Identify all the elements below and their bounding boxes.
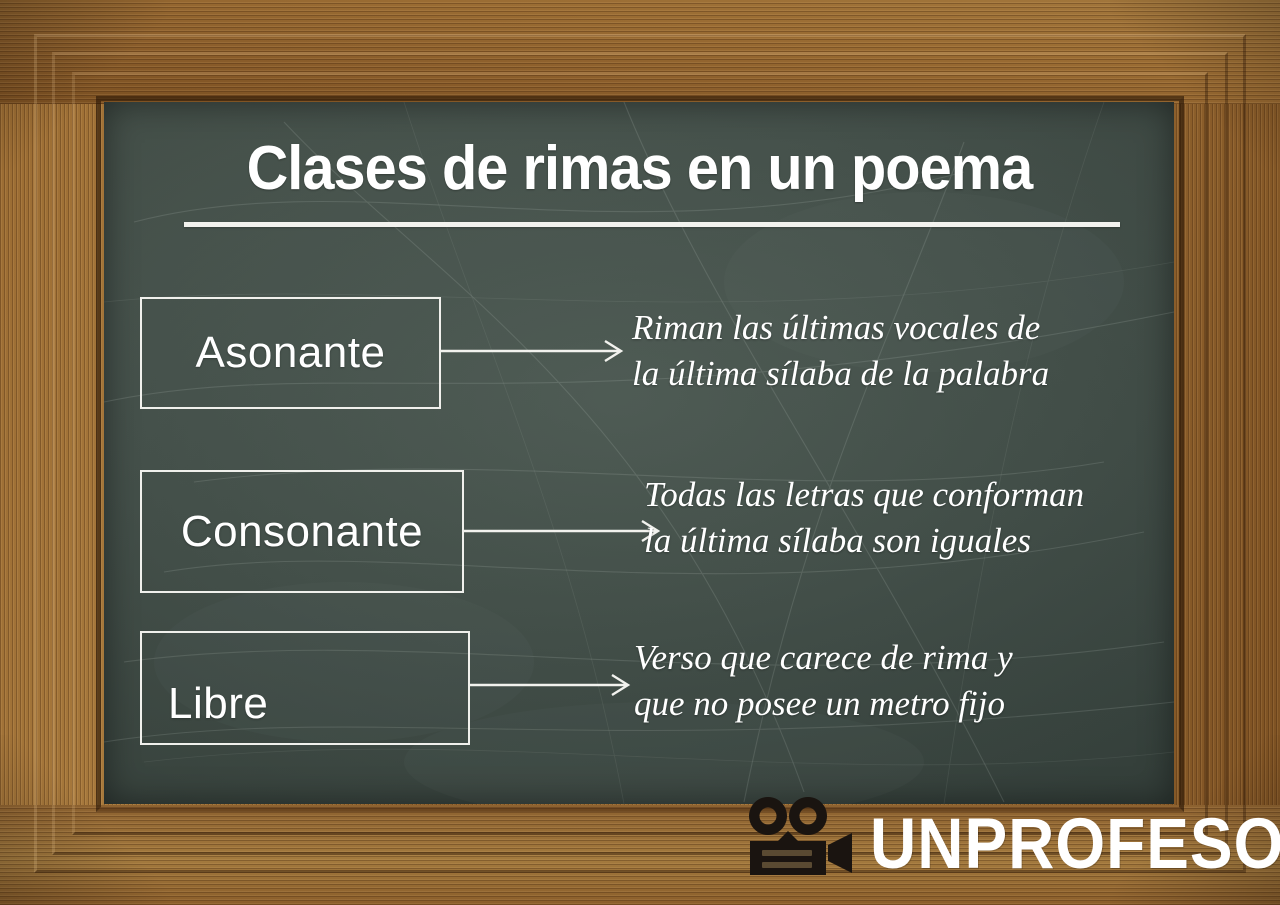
brand-wordmark: UNPROFESOR <box>870 812 1280 877</box>
term-label: Asonante <box>196 328 386 378</box>
page-title: Clases de rimas en un poema <box>246 138 1032 200</box>
page-title-underline <box>184 222 1120 227</box>
brand-logo[interactable]: UNPROFESOR <box>748 795 1280 877</box>
chalkboard: Clases de rimas en un poema Asonante Rim… <box>104 102 1174 804</box>
arrow-right-icon-2 <box>464 518 669 544</box>
term-label: Consonante <box>181 507 423 557</box>
description-libre: Verso que carece de rima y que no posee … <box>634 635 1154 726</box>
movie-camera-icon <box>748 795 856 877</box>
term-box-consonante[interactable]: Consonante <box>140 470 464 593</box>
description-asonante: Riman las últimas vocales de la última s… <box>632 305 1152 396</box>
term-box-asonante[interactable]: Asonante <box>140 297 441 409</box>
term-label: Libre <box>168 679 268 729</box>
slide-screenshot: Clases de rimas en un poema Asonante Rim… <box>0 0 1280 905</box>
arrow-right-icon-3 <box>470 672 642 698</box>
page-title-wrap: Clases de rimas en un poema <box>104 138 1174 200</box>
term-box-libre[interactable]: Libre <box>140 631 470 745</box>
description-consonante: Todas las letras que conforman la última… <box>644 472 1174 563</box>
frame-rail-top <box>0 0 1280 104</box>
arrow-right-icon-1 <box>441 338 631 364</box>
